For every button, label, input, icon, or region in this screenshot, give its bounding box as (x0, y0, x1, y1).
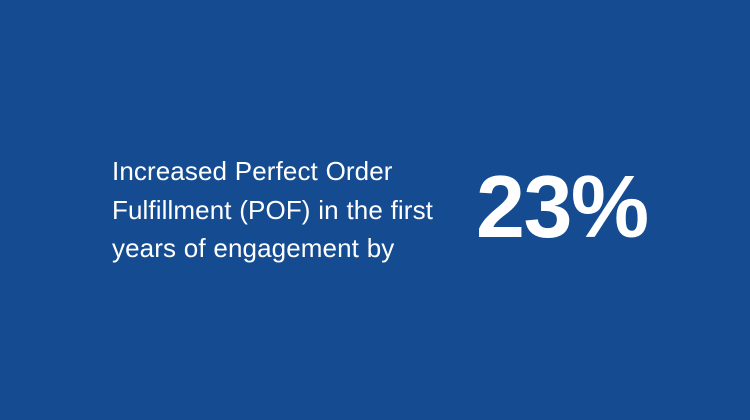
callout-content: Increased Perfect Order Fulfillment (POF… (0, 0, 750, 420)
stat-value: 23% (476, 163, 648, 251)
statement-text: Increased Perfect Order Fulfillment (POF… (112, 152, 446, 268)
stat-callout-slide: Increased Perfect Order Fulfillment (POF… (0, 0, 750, 420)
stat-value-container: 23% (476, 0, 648, 420)
